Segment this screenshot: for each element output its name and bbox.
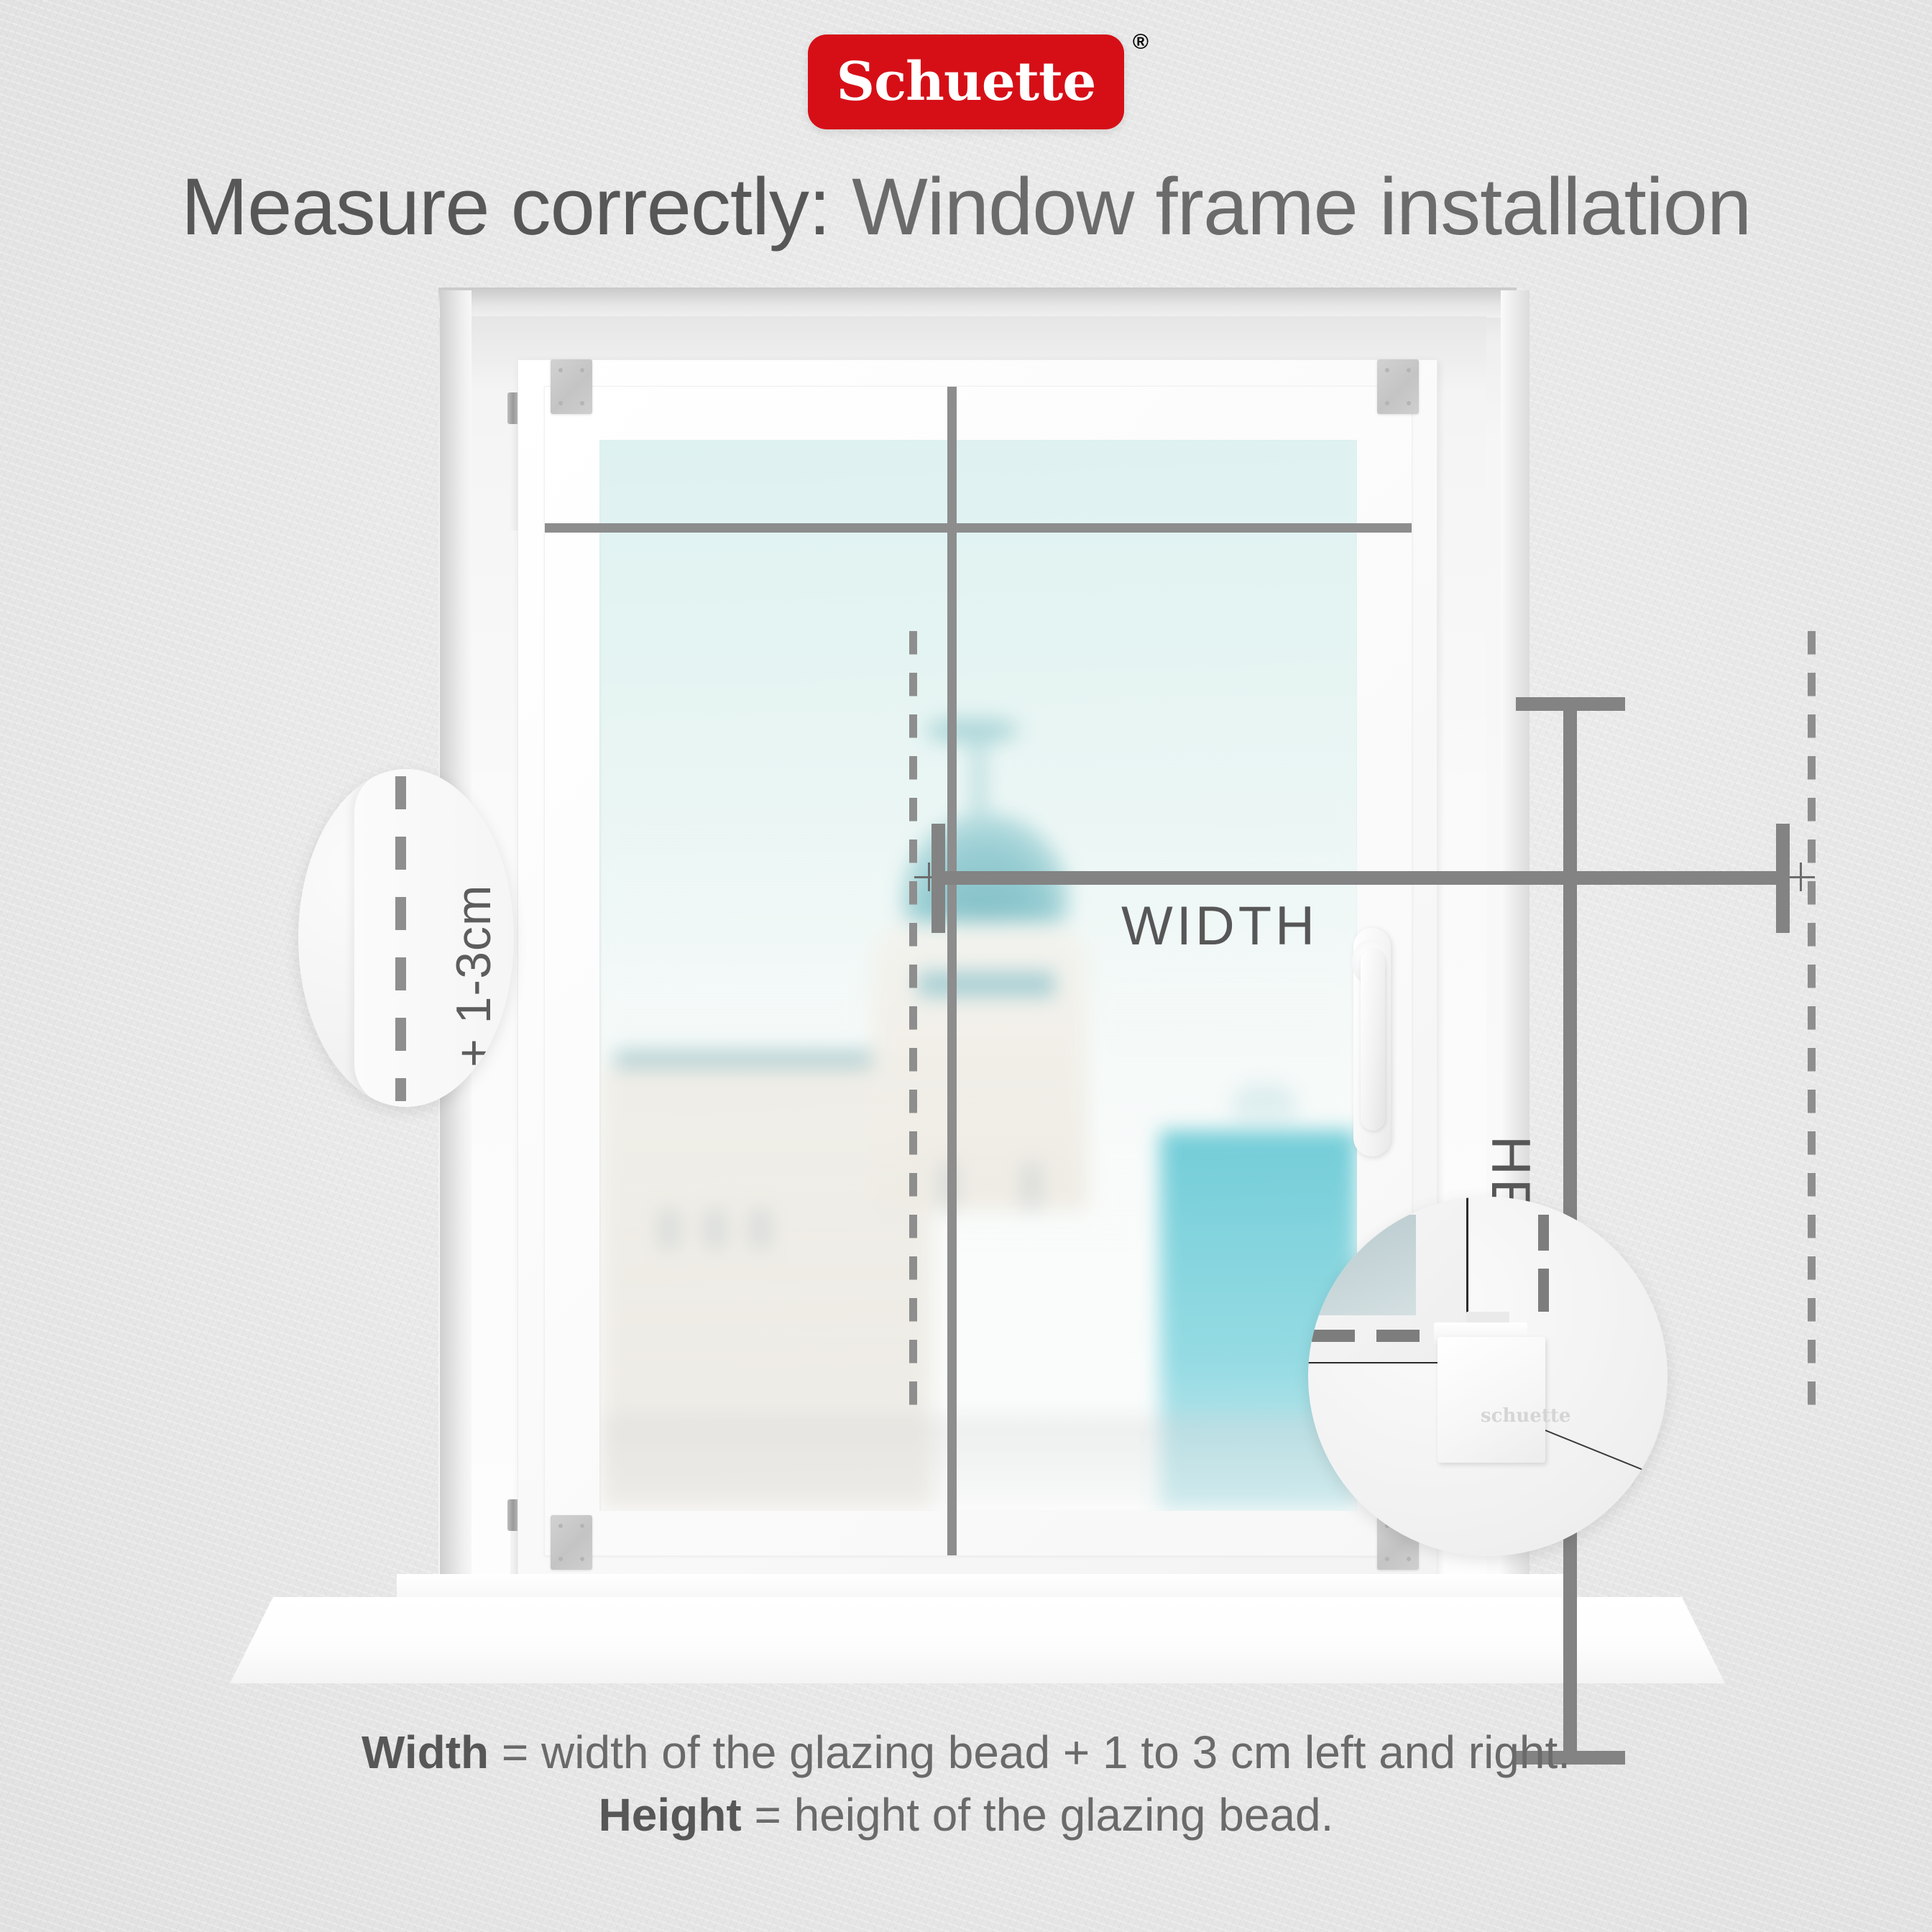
tolerance-label: + 1-3cm <box>446 884 502 1067</box>
plus-mark-right-icon <box>1786 862 1815 891</box>
magnified-glass <box>1315 1215 1416 1315</box>
schuette-logo: Schuette ® <box>808 34 1124 129</box>
mullion-bar <box>947 387 957 1555</box>
bracket-brand-embossing: schuette <box>1481 1405 1570 1427</box>
magnified-hairline <box>1308 1362 1437 1363</box>
mounting-bracket-top-left <box>551 359 592 414</box>
caption-key-width: Width <box>362 1726 489 1778</box>
dashed-guide-right <box>1808 631 1816 1407</box>
magnified-dashed-guide <box>395 776 406 1101</box>
window-sill <box>230 1597 1725 1683</box>
caption-line-height: Height = height of the glazing bead. <box>0 1784 1932 1846</box>
magnified-dash-b <box>1376 1330 1420 1342</box>
magnifier-tolerance-detail: + 1-3cm <box>298 769 514 1107</box>
width-cap-right <box>1776 824 1790 933</box>
reveal-top-ledge <box>438 287 1517 318</box>
registered-trademark-icon: ® <box>1133 30 1149 55</box>
caption-line-width: Width = width of the glazing bead + 1 to… <box>0 1721 1932 1783</box>
magnified-dash-v2 <box>1538 1269 1549 1312</box>
caption-text-height: = height of the glazing bead. <box>742 1789 1334 1841</box>
magnified-bracket-body: schuette <box>1437 1337 1545 1463</box>
page-title-light: Window frame installation <box>852 162 1751 252</box>
page-title: Measure correctly: Window frame installa… <box>0 164 1932 251</box>
logo-wordmark: Schuette <box>837 55 1096 109</box>
caption-block: Width = width of the glazing bead + 1 to… <box>0 1721 1932 1846</box>
width-label: WIDTH <box>1121 895 1318 957</box>
width-measure-line <box>931 871 1790 885</box>
caption-text-width: = width of the glazing bead + 1 to 3 cm … <box>489 1726 1570 1778</box>
window-frame <box>517 359 1437 1581</box>
width-cap-left <box>931 824 945 933</box>
window-handle-lever[interactable] <box>1361 949 1385 1131</box>
page-title-strong: Measure correctly: <box>181 162 830 252</box>
caption-key-height: Height <box>599 1789 742 1841</box>
magnifier-bracket-detail: schuette <box>1308 1197 1667 1556</box>
magnified-dash-v1 <box>1538 1215 1549 1251</box>
transom-bar <box>545 523 1412 533</box>
mounting-bracket-bottom-left <box>551 1515 592 1570</box>
height-cap-top <box>1516 697 1625 711</box>
mounting-bracket-top-right <box>1377 359 1419 414</box>
dashed-guide-left <box>909 631 917 1407</box>
city-view-through-glass <box>599 718 1357 1511</box>
window-glass-pane <box>599 440 1357 1511</box>
magnified-dash-a <box>1312 1330 1355 1342</box>
window-sash <box>544 386 1412 1556</box>
